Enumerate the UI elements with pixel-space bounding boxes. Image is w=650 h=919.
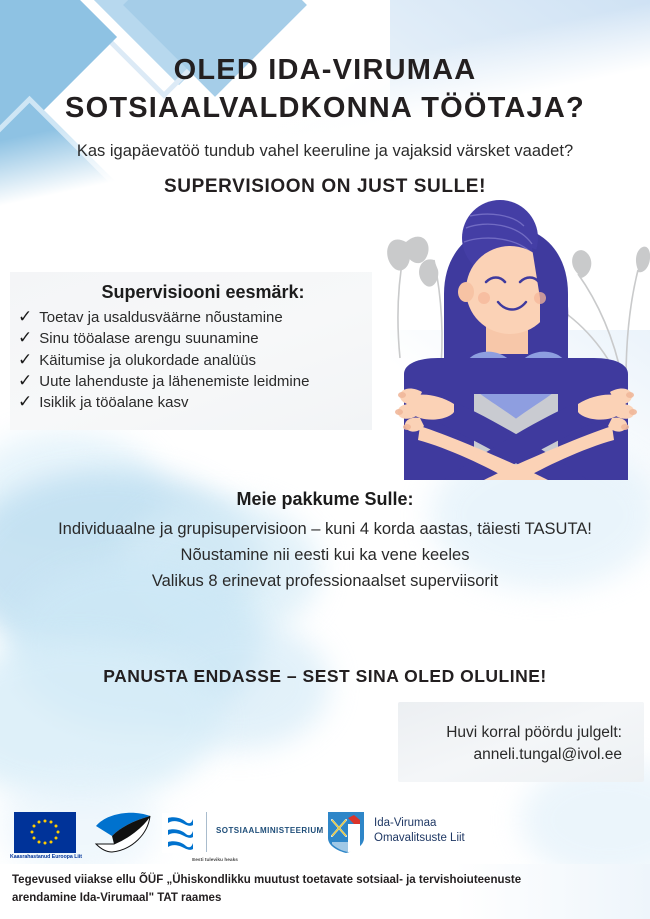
check-icon: ✓ — [18, 351, 32, 368]
intro-tagline: SUPERVISIOON ON JUST SULLE! — [0, 176, 650, 198]
self-hug-illustration — [382, 198, 650, 480]
contact-email[interactable]: anneli.tungal@ivol.ee — [408, 744, 622, 766]
goals-list: ✓ Toetav ja usaldusväärne nõustamine ✓ S… — [10, 307, 372, 413]
list-item: ✓ Sinu tööalase arengu suunamine — [18, 328, 366, 349]
check-icon: ✓ — [18, 393, 32, 410]
offer-lines: Individuaalne ja grupisupervisioon – kun… — [25, 516, 625, 594]
check-icon: ✓ — [18, 372, 32, 389]
list-item-label: Toetav ja usaldusväärne nõustamine — [39, 307, 283, 328]
offer-line: Individuaalne ja grupisupervisioon – kun… — [25, 516, 625, 542]
list-item: ✓ Uute lahenduste ja lähenemiste leidmin… — [18, 371, 366, 392]
offer-line: Valikus 8 erinevat professionaalset supe… — [25, 568, 625, 594]
funding-disclaimer: Tegevused viiakse ellu ÕÜF „Ühiskondlikk… — [12, 872, 572, 908]
ida-virumaa-crest-icon — [326, 810, 366, 854]
list-item-label: Käitumise ja olukordade analüüs — [39, 350, 256, 371]
check-icon: ✓ — [18, 308, 32, 325]
list-item-label: Sinu tööalase arengu suunamine — [39, 328, 258, 349]
check-icon: ✓ — [18, 329, 32, 346]
goals-title: Supervisiooni eesmärk: — [10, 282, 372, 303]
headline-line-1: OLED IDA-VIRUMAA — [0, 52, 650, 90]
ivol-logo-line-1: Ida-Virumaa — [374, 816, 465, 831]
ministry-logo: SOTSIAALMINISTEERIUM — [160, 812, 340, 854]
goals-panel: Supervisiooni eesmärk: ✓ Toetav ja usald… — [10, 272, 372, 430]
poster-headline: OLED IDA-VIRUMAA SOTSIAALVALDKONNA TÖÖTA… — [0, 52, 650, 127]
estonia-coat-of-arms-icon — [160, 812, 200, 854]
headline-line-2: SOTSIAALVALDKONNA TÖÖTAJA? — [0, 90, 650, 128]
footer-logo-row: Kaasrahastanud Euroopa Liit Eesti tulevi… — [0, 806, 650, 864]
offer-title: Meie pakkume Sulle: — [0, 489, 650, 510]
contact-prompt: Huvi korral pöördu julgelt: — [408, 722, 622, 744]
list-item-label: Isiklik ja tööalane kasv — [39, 392, 188, 413]
ministry-logo-divider — [206, 812, 207, 852]
poster-canvas: OLED IDA-VIRUMAA SOTSIAALVALDKONNA TÖÖTA… — [0, 0, 650, 919]
list-item: ✓ Toetav ja usaldusväärne nõustamine — [18, 307, 366, 328]
offer-line: Nõustamine nii eesti kui ka vene keeles — [25, 542, 625, 568]
eu-logo-caption: Kaasrahastanud Euroopa Liit — [2, 854, 90, 861]
ivol-logo-name: Ida-Virumaa Omavalitsuste Liit — [374, 816, 465, 846]
contact-panel: Huvi korral pöördu julgelt: anneli.tunga… — [398, 702, 644, 782]
list-item: ✓ Käitumise ja olukordade analüüs — [18, 350, 366, 371]
list-item-label: Uute lahenduste ja lähenemiste leidmine — [39, 371, 309, 392]
ivol-logo: Ida-Virumaa Omavalitsuste Liit — [326, 810, 556, 858]
intro-question: Kas igapäevatöö tundub vahel keeruline j… — [0, 142, 650, 161]
call-to-action: PANUSTA ENDASSE – SEST SINA OLED OLULINE… — [0, 666, 650, 687]
estonia-flag-logo: Eesti tuleviku heaks — [92, 810, 154, 854]
ivol-logo-line-2: Omavalitsuste Liit — [374, 831, 465, 846]
estonia-logo-caption: Eesti tuleviku heaks — [182, 858, 248, 864]
list-item: ✓ Isiklik ja tööalane kasv — [18, 392, 366, 413]
ministry-logo-name: SOTSIAALMINISTEERIUM — [216, 826, 324, 835]
